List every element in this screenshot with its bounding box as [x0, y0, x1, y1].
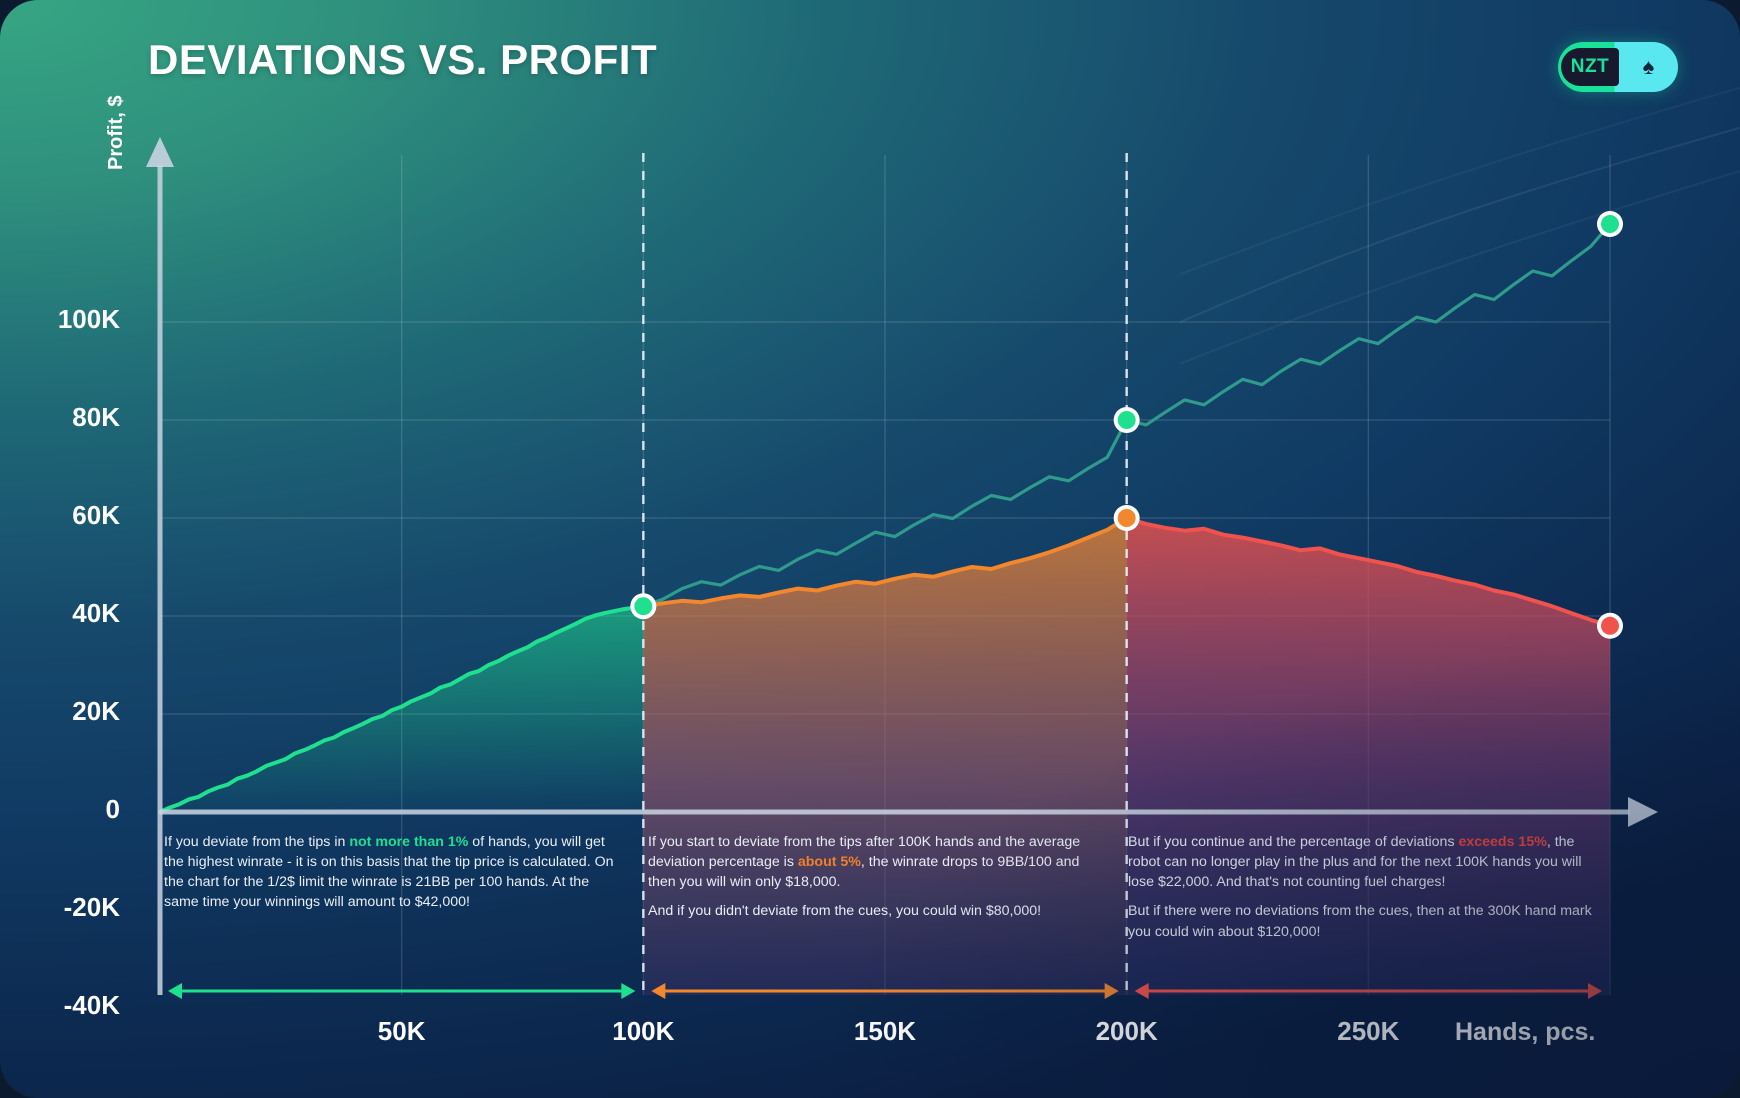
y-tick-label: 40K: [10, 598, 120, 629]
y-tick-label: -40K: [10, 990, 120, 1021]
x-tick-label: 150K: [815, 1016, 955, 1047]
note-paragraph: But if you continue and the percentage o…: [1128, 832, 1598, 892]
infographic-root: DEVIATIONS VS. PROFIT NZT ♠: [0, 0, 1740, 1098]
note-paragraph: And if you didn't deviate from the cues,…: [648, 901, 1093, 921]
y-tick-label: 100K: [10, 304, 120, 335]
note-highlight: about 5%: [798, 854, 861, 870]
note-text: If you deviate from the tips in: [164, 834, 349, 850]
x-tick-label: 250K: [1298, 1016, 1438, 1047]
x-tick-label: 200K: [1057, 1016, 1197, 1047]
note-highlight: exceeds 15%: [1458, 834, 1546, 850]
note-text: But if you continue and the percentage o…: [1128, 834, 1458, 850]
note-paragraph: If you start to deviate from the tips af…: [648, 832, 1093, 892]
x-tick-label: 50K: [332, 1016, 472, 1047]
note-text: But if there were no deviations from the…: [1128, 903, 1592, 939]
y-tick-label: -20K: [10, 892, 120, 923]
x-tick-label: 100K: [573, 1016, 713, 1047]
note-2: If you start to deviate from the tips af…: [648, 832, 1093, 922]
note-3: But if you continue and the percentage o…: [1128, 832, 1598, 942]
y-tick-label: 20K: [10, 696, 120, 727]
note-paragraph: But if there were no deviations from the…: [1128, 901, 1598, 941]
note-1: If you deviate from the tips in not more…: [164, 832, 616, 913]
y-tick-label: 60K: [10, 500, 120, 531]
y-tick-label: 80K: [10, 402, 120, 433]
y-axis-label: Profit, $: [105, 40, 128, 170]
x-axis-label: Hands, pcs.: [1455, 1018, 1595, 1047]
note-text: And if you didn't deviate from the cues,…: [648, 903, 1041, 919]
y-tick-label: 0: [10, 794, 120, 825]
note-paragraph: If you deviate from the tips in not more…: [164, 832, 616, 913]
note-highlight: not more than 1%: [349, 834, 468, 850]
